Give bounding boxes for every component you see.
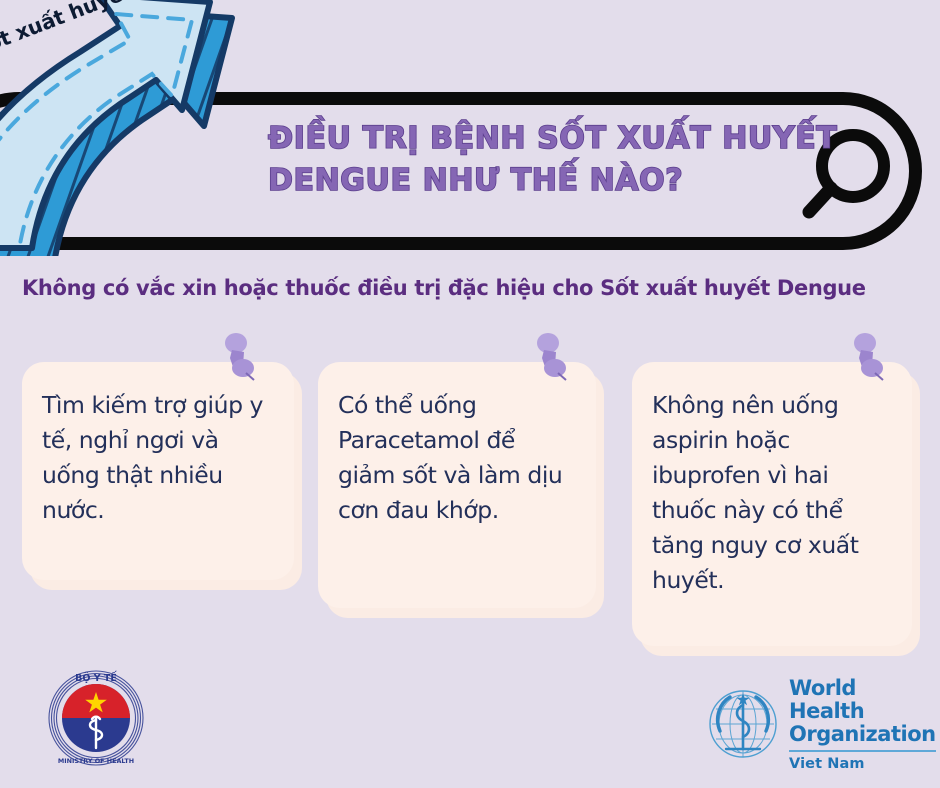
title-line-1: ĐIỀU TRỊ BỆNH SỐT XUẤT HUYẾT xyxy=(268,118,808,160)
arrow-shape-icon xyxy=(0,0,300,256)
advice-card: Tìm kiếm trợ giúp y tế, nghỉ ngơi và uốn… xyxy=(22,362,294,580)
who-country-label: Viet Nam xyxy=(789,756,936,772)
moh-bottom-text: MINISTRY OF HEALTH xyxy=(58,757,134,765)
advice-card-text: Có thể uống Paracetamol để giảm sốt và l… xyxy=(338,388,576,528)
advice-card-text: Tìm kiếm trợ giúp y tế, nghỉ ngơi và uốn… xyxy=(42,388,274,528)
banner-arrow: Sốt xuất huyết: Hỏi&Đáp xyxy=(0,0,300,256)
advice-card-list: Tìm kiếm trợ giúp y tế, nghỉ ngơi và uốn… xyxy=(0,338,940,638)
infographic-poster: Sốt xuất huyết: Hỏi&Đáp ĐIỀU TRỊ BỆNH SỐ… xyxy=(0,0,940,788)
advice-card: Có thể uống Paracetamol để giảm sốt và l… xyxy=(318,362,596,608)
page-title: ĐIỀU TRỊ BỆNH SỐT XUẤT HUYẾT DENGUE NHƯ … xyxy=(268,118,808,202)
who-wordmark: World Health Organization Viet Nam xyxy=(789,677,936,772)
who-line-1: World Health xyxy=(789,677,936,723)
moh-top-text: BỘ Y TẾ xyxy=(75,671,117,684)
who-logo: World Health Organization Viet Nam xyxy=(706,678,921,770)
title-line-2: DENGUE NHƯ THẾ NÀO? xyxy=(268,160,808,202)
who-divider xyxy=(789,750,936,752)
who-emblem-icon xyxy=(706,687,780,761)
advice-card: Không nên uống aspirin hoặc ibuprofen vì… xyxy=(632,362,912,646)
advice-card-text: Không nên uống aspirin hoặc ibuprofen vì… xyxy=(652,388,892,598)
ministry-of-health-logo: BỘ Y TẾ MINISTRY OF HEALTH xyxy=(42,662,150,770)
who-line-2: Organization xyxy=(789,723,936,746)
subtitle-text: Không có vắc xin hoặc thuốc điều trị đặc… xyxy=(22,276,922,300)
